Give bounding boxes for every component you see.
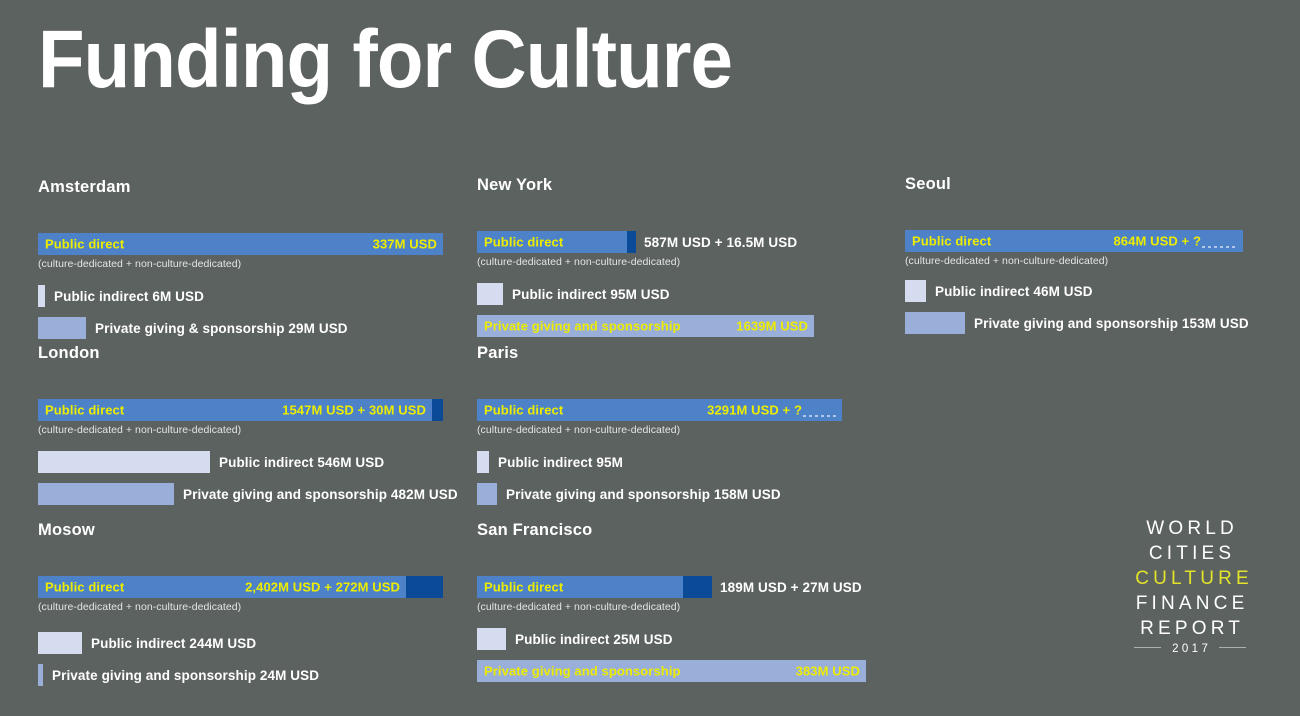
- public-direct-row: Public direct 3291M USD + ?: [477, 399, 842, 421]
- public-direct-note: (culture-dedicated + non-culture-dedicat…: [905, 255, 1249, 269]
- page-title: Funding for Culture: [38, 8, 732, 112]
- public-direct-row: Public direct 2,402M USD + 272M USD: [38, 576, 443, 598]
- logo-line-finance: FINANCE: [1131, 591, 1249, 616]
- public-indirect-label: Public indirect 95M USD: [512, 287, 670, 302]
- public-direct-bar[interactable]: Public direct: [477, 231, 627, 253]
- private-giving-row: Private giving and sponsorship 153M USD: [905, 312, 1249, 334]
- private-giving-bar[interactable]: [38, 664, 43, 686]
- public-indirect-bar[interactable]: [38, 632, 82, 654]
- city-name: Amsterdam: [38, 178, 443, 202]
- city-block-paris: Paris Public direct 3291M USD + ? (cultu…: [477, 344, 842, 505]
- private-giving-bar[interactable]: [38, 317, 86, 339]
- public-direct-value: 3291M USD + ?: [707, 403, 802, 418]
- private-giving-bar[interactable]: [905, 312, 965, 334]
- public-direct-value: 587M USD + 16.5M USD: [644, 235, 797, 250]
- private-giving-label: Private giving and sponsorship: [484, 319, 681, 334]
- private-giving-row: Private giving & sponsorship 29M USD: [38, 317, 443, 339]
- public-direct-row: Public direct 864M USD + ?: [905, 230, 1249, 252]
- public-direct-label: Public direct: [912, 234, 991, 249]
- public-direct-label: Public direct: [484, 235, 563, 250]
- public-direct-bar[interactable]: Public direct 2,402M USD + 272M USD: [38, 576, 406, 598]
- city-block-seoul: Seoul Public direct 864M USD + ? (cultur…: [905, 175, 1249, 334]
- private-giving-label: Private giving and sponsorship 482M USD: [183, 487, 458, 502]
- public-direct-row: Public direct 337M USD: [38, 233, 443, 255]
- public-indirect-bar[interactable]: [38, 451, 210, 473]
- public-direct-secondary-bar[interactable]: [406, 576, 443, 598]
- public-indirect-row: Public indirect 46M USD: [905, 280, 1249, 302]
- public-direct-value: 189M USD + 27M USD: [720, 580, 862, 595]
- public-indirect-row: Public indirect 95M: [477, 451, 842, 473]
- public-direct-label: Public direct: [45, 580, 124, 595]
- city-block-new-york: New York Public direct 587M USD + 16.5M …: [477, 176, 814, 337]
- public-direct-secondary-bar[interactable]: [683, 576, 712, 598]
- private-giving-row: Private giving and sponsorship 1639M USD: [477, 315, 814, 337]
- logo-line-cities: CITIES: [1131, 541, 1249, 566]
- column-left: Amsterdam Public direct 337M USD (cultur…: [38, 168, 448, 708]
- public-direct-row: Public direct 1547M USD + 30M USD: [38, 399, 458, 421]
- private-giving-bar[interactable]: [38, 483, 174, 505]
- public-direct-row: Public direct 189M USD + 27M USD: [477, 576, 866, 598]
- public-indirect-label: Public indirect 546M USD: [219, 455, 384, 470]
- city-name: Paris: [477, 344, 842, 368]
- public-direct-label: Public direct: [484, 403, 563, 418]
- private-giving-value: 383M USD: [796, 664, 860, 679]
- unknown-continuation-dots: [803, 415, 837, 417]
- private-giving-value: 1639M USD: [736, 319, 808, 334]
- public-direct-note: (culture-dedicated + non-culture-dedicat…: [38, 424, 458, 438]
- logo-line-report: REPORT: [1131, 616, 1249, 641]
- private-giving-bar[interactable]: Private giving and sponsorship 383M USD: [477, 660, 866, 682]
- private-giving-bar[interactable]: [477, 483, 497, 505]
- private-giving-row: Private giving and sponsorship 383M USD: [477, 660, 866, 682]
- public-direct-value: 337M USD: [373, 237, 437, 252]
- city-columns: Amsterdam Public direct 337M USD (cultur…: [0, 168, 1300, 708]
- city-block-san-francisco: San Francisco Public direct 189M USD + 2…: [477, 521, 866, 682]
- private-giving-row: Private giving and sponsorship 24M USD: [38, 664, 443, 686]
- public-direct-note: (culture-dedicated + non-culture-dedicat…: [38, 258, 443, 272]
- private-giving-label: Private giving and sponsorship 158M USD: [506, 487, 781, 502]
- unknown-continuation-dots: [1202, 246, 1236, 248]
- public-direct-note: (culture-dedicated + non-culture-dedicat…: [477, 601, 866, 615]
- public-indirect-bar[interactable]: [905, 280, 926, 302]
- public-indirect-row: Public indirect 95M USD: [477, 283, 814, 305]
- public-indirect-row: Public indirect 6M USD: [38, 285, 443, 307]
- city-block-london: London Public direct 1547M USD + 30M USD…: [38, 344, 458, 505]
- private-giving-label: Private giving and sponsorship: [484, 664, 681, 679]
- logo-line-culture: CULTURE: [1131, 566, 1249, 591]
- logo-year-wrap: 2017: [1131, 639, 1249, 657]
- public-direct-label: Public direct: [45, 403, 124, 418]
- public-indirect-label: Public indirect 95M: [498, 455, 623, 470]
- public-direct-label: Public direct: [45, 237, 124, 252]
- public-direct-note: (culture-dedicated + non-culture-dedicat…: [38, 601, 443, 615]
- logo-year: 2017: [1161, 643, 1220, 655]
- city-name: Mosow: [38, 521, 443, 545]
- public-direct-note: (culture-dedicated + non-culture-dedicat…: [477, 424, 842, 438]
- public-indirect-label: Public indirect 6M USD: [54, 289, 204, 304]
- public-direct-value: 2,402M USD + 272M USD: [245, 580, 400, 595]
- public-direct-secondary-bar[interactable]: [432, 399, 443, 421]
- public-indirect-bar[interactable]: [38, 285, 45, 307]
- private-giving-label: Private giving and sponsorship 153M USD: [974, 316, 1249, 331]
- public-direct-note: (culture-dedicated + non-culture-dedicat…: [477, 256, 814, 270]
- public-indirect-label: Public indirect 244M USD: [91, 636, 256, 651]
- wccr-logo: WORLD CITIES CULTURE FINANCE REPORT 2017: [1131, 516, 1249, 657]
- city-name: San Francisco: [477, 521, 866, 545]
- logo-line-world: WORLD: [1131, 516, 1249, 541]
- public-direct-bar[interactable]: Public direct 337M USD: [38, 233, 443, 255]
- column-middle: New York Public direct 587M USD + 16.5M …: [477, 168, 877, 708]
- public-direct-secondary-bar[interactable]: [627, 231, 636, 253]
- public-indirect-label: Public indirect 46M USD: [935, 284, 1093, 299]
- private-giving-row: Private giving and sponsorship 158M USD: [477, 483, 842, 505]
- private-giving-row: Private giving and sponsorship 482M USD: [38, 483, 458, 505]
- city-block-mosow: Mosow Public direct 2,402M USD + 272M US…: [38, 521, 443, 686]
- public-direct-label: Public direct: [484, 580, 563, 595]
- public-direct-bar[interactable]: Public direct 3291M USD + ?: [477, 399, 842, 421]
- public-indirect-bar[interactable]: [477, 451, 489, 473]
- public-direct-bar[interactable]: Public direct 864M USD + ?: [905, 230, 1243, 252]
- private-giving-label: Private giving & sponsorship 29M USD: [95, 321, 348, 336]
- public-direct-value: 1547M USD + 30M USD: [282, 403, 426, 418]
- public-indirect-row: Public indirect 244M USD: [38, 632, 443, 654]
- private-giving-bar[interactable]: Private giving and sponsorship 1639M USD: [477, 315, 814, 337]
- city-block-amsterdam: Amsterdam Public direct 337M USD (cultur…: [38, 178, 443, 339]
- public-indirect-row: Public indirect 25M USD: [477, 628, 866, 650]
- private-giving-label: Private giving and sponsorship 24M USD: [52, 668, 319, 683]
- public-indirect-row: Public indirect 546M USD: [38, 451, 458, 473]
- public-direct-row: Public direct 587M USD + 16.5M USD: [477, 231, 814, 253]
- public-direct-bar[interactable]: Public direct: [477, 576, 683, 598]
- city-name: London: [38, 344, 458, 368]
- city-name: New York: [477, 176, 814, 200]
- public-indirect-label: Public indirect 25M USD: [515, 632, 673, 647]
- public-direct-bar[interactable]: Public direct 1547M USD + 30M USD: [38, 399, 432, 421]
- public-indirect-bar[interactable]: [477, 283, 503, 305]
- city-name: Seoul: [905, 175, 1249, 199]
- public-indirect-bar[interactable]: [477, 628, 506, 650]
- public-direct-value: 864M USD + ?: [1113, 234, 1201, 249]
